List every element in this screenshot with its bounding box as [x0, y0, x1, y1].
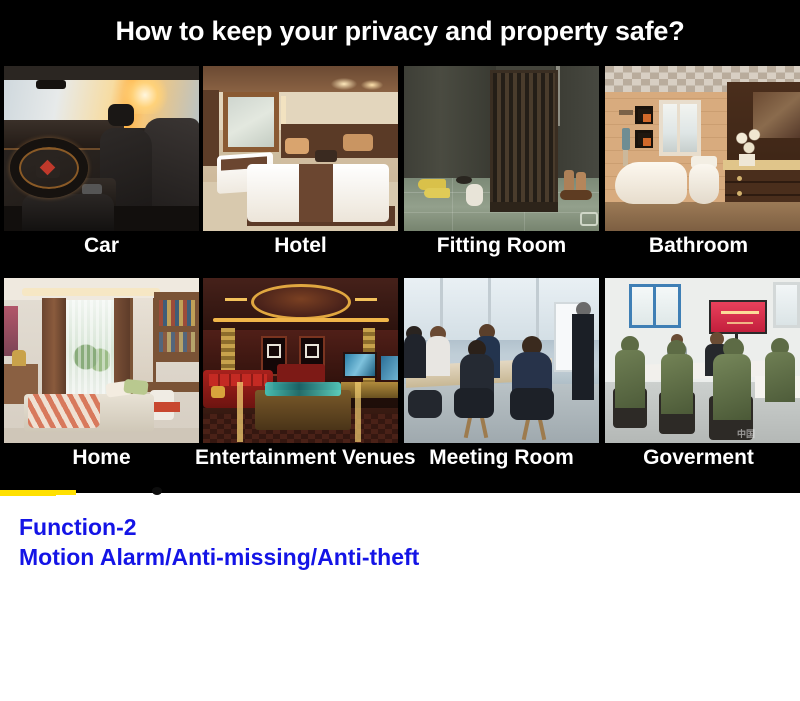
- scene-label-bathroom: Bathroom: [597, 234, 800, 258]
- ktv-lounge-photo: [203, 278, 398, 443]
- black-banner: How to keep your privacy and property sa…: [0, 0, 800, 492]
- scene-row-2: Home: [0, 278, 800, 490]
- banner-bottom-edge: [76, 489, 800, 493]
- scene-row-1: Car: [0, 66, 800, 278]
- image-watermark: 中国: [737, 424, 795, 438]
- scene-cell-meeting-room: Meeting Room: [404, 278, 599, 490]
- scene-cell-home: Home: [4, 278, 199, 490]
- scene-cell-entertainment-venues: Entertainment Venues: [203, 278, 398, 490]
- car-interior-photo: [4, 66, 199, 231]
- scene-label-hotel: Hotel: [195, 234, 406, 258]
- scene-label-fitting-room: Fitting Room: [396, 234, 607, 258]
- scene-label-home: Home: [0, 446, 207, 470]
- scene-label-car: Car: [0, 234, 207, 258]
- watermark-text: 中国: [737, 429, 755, 439]
- scene-label-entertainment-venues: Entertainment Venues: [195, 446, 406, 470]
- scene-grid: Car: [0, 66, 800, 490]
- banner-notch: [152, 487, 162, 495]
- yellow-accent-bar: [0, 490, 76, 495]
- bathroom-photo: [605, 66, 800, 231]
- hotel-room-photo: [203, 66, 398, 231]
- government-meeting-photo: 中国: [605, 278, 800, 443]
- page-root: How to keep your privacy and property sa…: [0, 0, 800, 701]
- scene-label-goverment: Goverment: [597, 446, 800, 470]
- scene-cell-goverment: 中国 Goverment: [605, 278, 800, 490]
- scene-cell-hotel: Hotel: [203, 66, 398, 278]
- scene-cell-bathroom: Bathroom: [605, 66, 800, 278]
- scene-cell-car: Car: [4, 66, 199, 278]
- meeting-room-photo: [404, 278, 599, 443]
- fitting-room-curtain-photo: [404, 66, 599, 231]
- function-subheading: Motion Alarm/Anti-missing/Anti-theft: [19, 542, 719, 572]
- home-bedroom-photo: [4, 278, 199, 443]
- page-title: How to keep your privacy and property sa…: [0, 16, 800, 47]
- scene-cell-fitting-room: Fitting Room: [404, 66, 599, 278]
- scene-label-meeting-room: Meeting Room: [396, 446, 607, 470]
- function-heading: Function-2: [19, 512, 719, 542]
- function-block: Function-2 Motion Alarm/Anti-missing/Ant…: [19, 512, 719, 572]
